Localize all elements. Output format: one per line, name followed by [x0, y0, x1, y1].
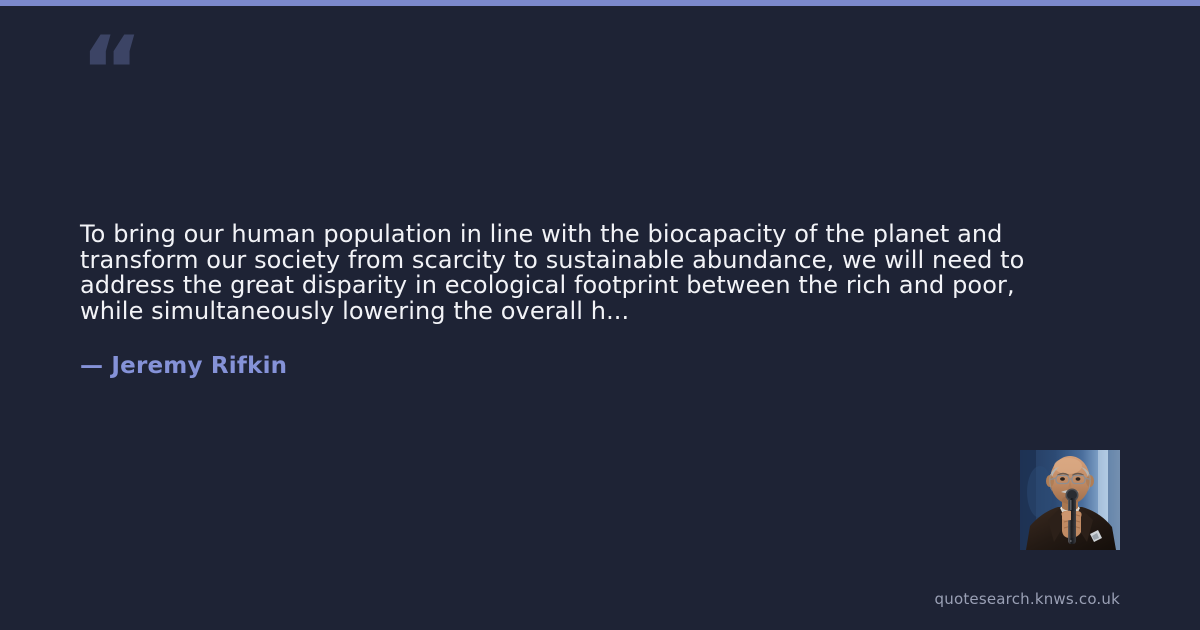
quote-attribution: — Jeremy Rifkin: [80, 353, 287, 379]
author-portrait-image: [1020, 450, 1120, 550]
quote-card: “ To bring our human population in line …: [0, 0, 1200, 630]
source-site-url[interactable]: quotesearch.knws.co.uk: [935, 590, 1120, 608]
open-quote-icon: “: [80, 24, 143, 120]
author-portrait: [1020, 450, 1120, 550]
top-accent-bar: [0, 0, 1200, 6]
quote-text: To bring our human population in line wi…: [80, 222, 1080, 324]
